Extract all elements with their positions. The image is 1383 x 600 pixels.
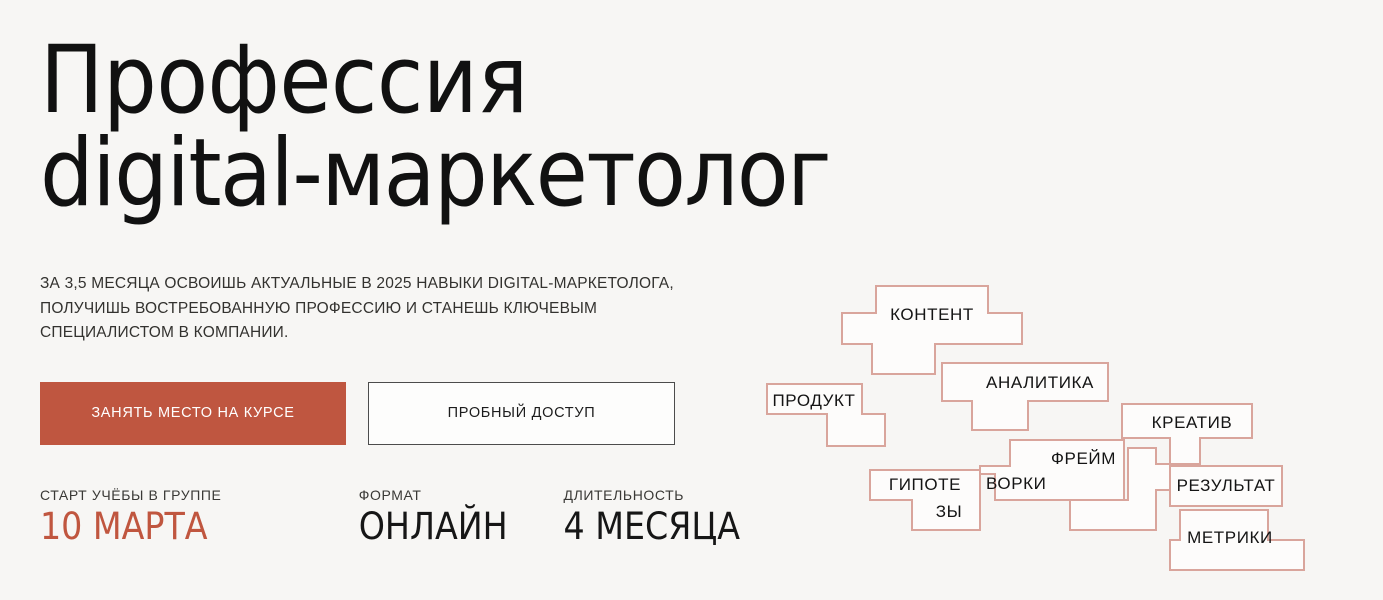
diagram-tile-gipotezy-label: ГИПОТЕ: [889, 475, 961, 494]
diagram-tile-gipotezy-label-2: ЗЫ: [936, 502, 963, 521]
diagram-tile-freymvorki-label-2: ВОРКИ: [986, 474, 1046, 493]
hero-left-column: Профессия digital-маркетолог ЗА 3,5 МЕСЯ…: [40, 34, 740, 546]
stat-duration-value: 4 МЕСЯЦА: [564, 508, 741, 547]
stat-format-label: ФОРМАТ: [359, 487, 564, 503]
stat-format-value: ОНЛАЙН: [359, 508, 564, 547]
page-title: Профессия digital-маркетолог: [40, 34, 740, 220]
diagram-tile-produkt-label: ПРОДУКТ: [772, 391, 855, 410]
trial-access-button[interactable]: ПРОБНЫЙ ДОСТУП: [368, 382, 675, 445]
stat-start-date-label: СТАРТ УЧЁБЫ В ГРУППЕ: [40, 487, 359, 503]
diagram-tile-freymvorki: ФРЕЙМ ВОРКИ: [980, 440, 1124, 500]
hero-subtitle: ЗА 3,5 МЕСЯЦА ОСВОИШЬ АКТУАЛЬНЫЕ В 2025 …: [40, 272, 680, 345]
stat-duration: ДЛИТЕЛЬНОСТЬ 4 МЕСЯЦА: [564, 487, 741, 547]
diagram-tile-kreativ-label: КРЕАТИВ: [1152, 413, 1233, 432]
diagram-tile-gipotezy: ГИПОТЕ ЗЫ: [870, 470, 980, 530]
diagram-tile-analitika: АНАЛИТИКА: [942, 363, 1108, 430]
diagram-tile-rezultat-label: РЕЗУЛЬТАТ: [1177, 476, 1276, 495]
diagram-tile-metriki-label: МЕТРИКИ: [1187, 528, 1273, 547]
page-title-line-2: digital-маркетолог: [40, 127, 740, 220]
diagram-tile-metriki: МЕТРИКИ: [1170, 510, 1304, 570]
stat-format: ФОРМАТ ОНЛАЙН: [359, 487, 564, 547]
diagram-tile-kontent: КОНТЕНТ: [842, 286, 1022, 374]
skills-puzzle-diagram: КОНТЕНТ АНАЛИТИКА ПРОДУКТ КРЕАТИВ ФРЕЙМ: [752, 278, 1322, 588]
landing-hero-page: Профессия digital-маркетолог ЗА 3,5 МЕСЯ…: [0, 0, 1383, 600]
course-stats: СТАРТ УЧЁБЫ В ГРУППЕ 10 МАРТА ФОРМАТ ОНЛ…: [40, 487, 740, 547]
diagram-tile-freymvorki-label: ФРЕЙМ: [1051, 449, 1116, 468]
diagram-tile-kontent-label: КОНТЕНТ: [890, 305, 974, 324]
enroll-button[interactable]: ЗАНЯТЬ МЕСТО НА КУРСЕ: [40, 382, 346, 445]
diagram-tile-analitika-label: АНАЛИТИКА: [986, 373, 1094, 392]
stat-start-date-value: 10 МАРТА: [40, 508, 359, 547]
cta-button-row: ЗАНЯТЬ МЕСТО НА КУРСЕ ПРОБНЫЙ ДОСТУП: [40, 382, 740, 445]
diagram-tile-produkt: ПРОДУКТ: [767, 384, 885, 446]
stat-start-date: СТАРТ УЧЁБЫ В ГРУППЕ 10 МАРТА: [40, 487, 359, 547]
diagram-tile-rezultat: РЕЗУЛЬТАТ: [1170, 466, 1282, 506]
stat-duration-label: ДЛИТЕЛЬНОСТЬ: [564, 487, 741, 503]
